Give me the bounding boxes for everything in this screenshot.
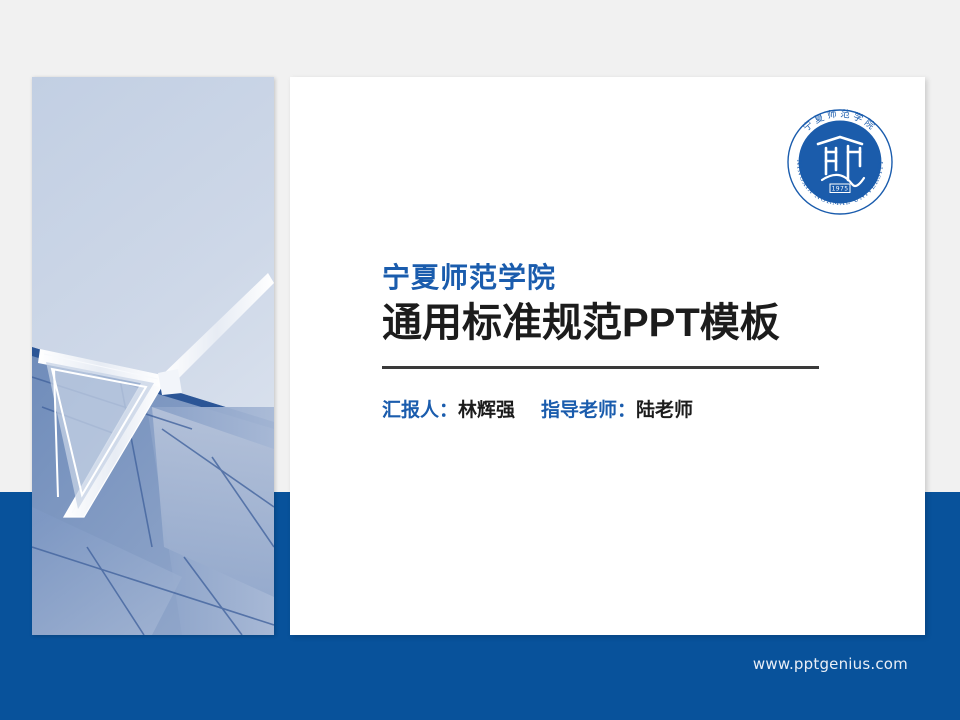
page-title: 通用标准规范PPT模板 (382, 300, 822, 346)
advisor-label: 指导老师： (541, 400, 636, 421)
advisor-name: 陆老师 (636, 400, 693, 421)
presenter-name: 林辉强 (458, 400, 515, 421)
footer-url[interactable]: www.pptgenius.com (753, 655, 908, 673)
ningxia-normal-university-logo: 宁夏师范学院 NINGXIA NORMAL UNIVERSITY (786, 108, 894, 216)
title-divider (382, 366, 819, 369)
title-text-block: 宁夏师范学院 通用标准规范PPT模板 汇报人：林辉强指导老师：陆老师 (382, 262, 822, 424)
svg-text:1975: 1975 (832, 186, 849, 193)
slide-root: 宁夏师范学院 NINGXIA NORMAL UNIVERSITY (0, 0, 960, 720)
university-name: 宁夏师范学院 (382, 262, 822, 294)
presenter-row: 汇报人：林辉强指导老师：陆老师 (382, 399, 822, 424)
presenter-label: 汇报人： (382, 400, 458, 421)
architecture-facade-photo (32, 77, 274, 635)
